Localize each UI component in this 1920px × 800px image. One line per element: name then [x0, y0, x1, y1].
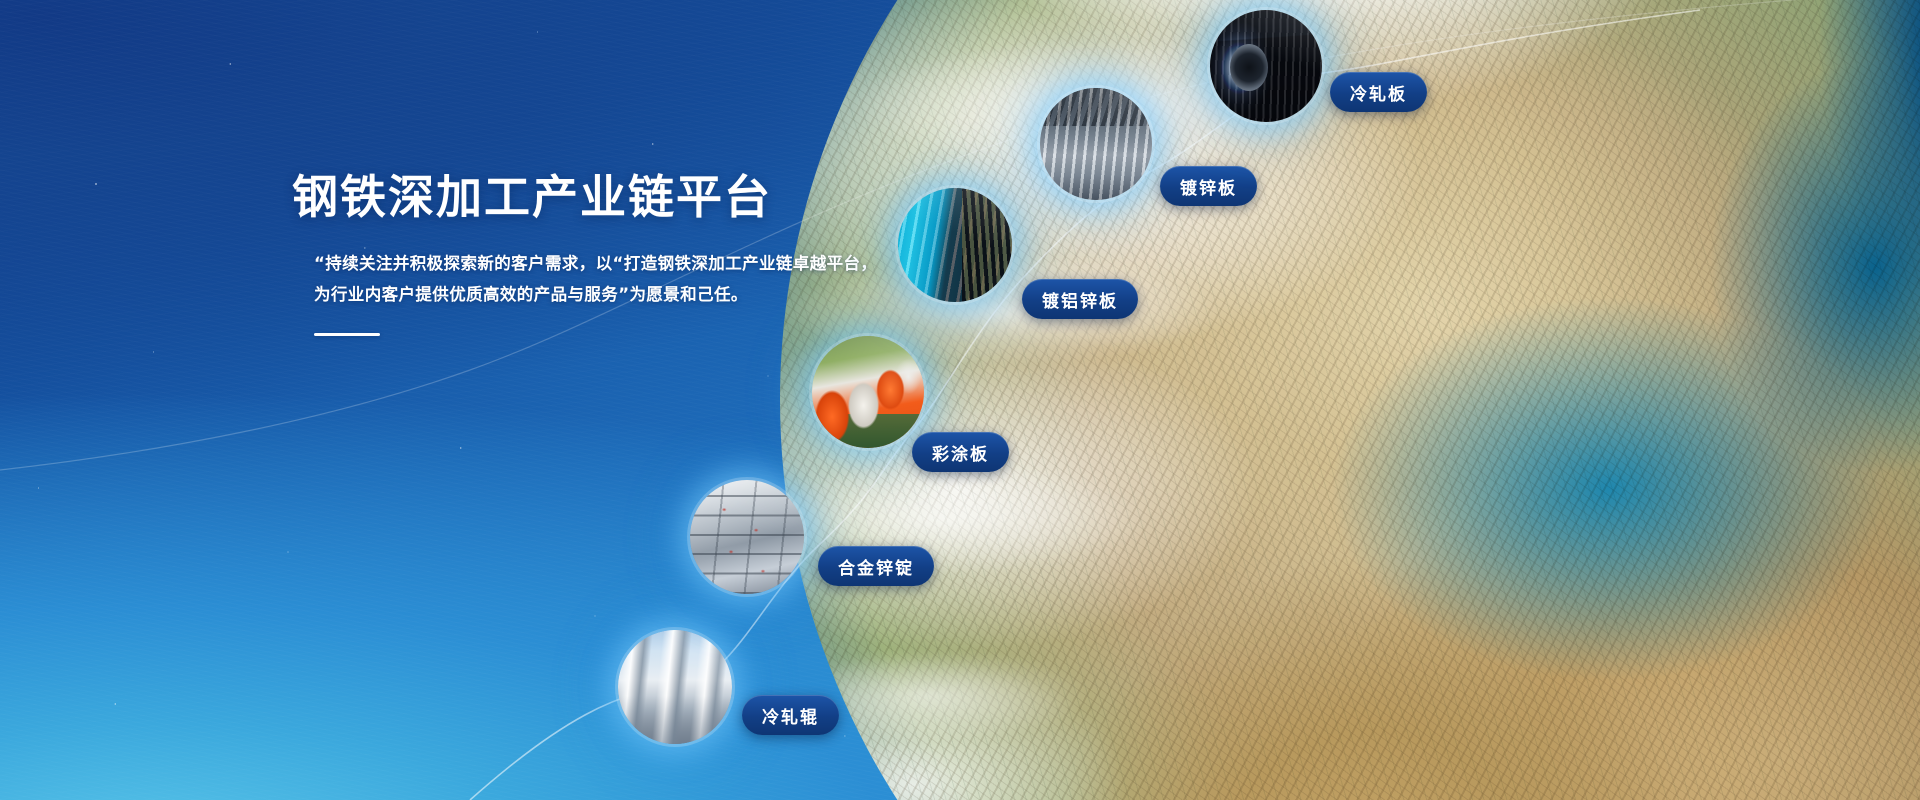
product-label-cold-rolled-plate[interactable]: 冷轧板	[1330, 72, 1427, 112]
hero-banner: 钢铁深加工产业链平台 “持续关注并积极探索新的客户需求，以“打造钢铁深加工产业链…	[0, 0, 1920, 800]
zinc-ingots-photo[interactable]	[690, 480, 804, 594]
steel-coil-photo[interactable]	[1210, 10, 1322, 122]
product-label-cold-rolling-roll[interactable]: 冷轧辊	[742, 695, 839, 735]
product-label-zinc-alloy-ingot[interactable]: 合金锌锭	[818, 546, 934, 586]
product-label-aluzinc-coated-plate[interactable]: 镀铝锌板	[1022, 279, 1138, 319]
warehouse-coils-photo[interactable]	[1040, 88, 1152, 200]
title-divider	[314, 333, 380, 336]
hero-subtitle-line-1: “持续关注并积极探索新的客户需求，以“打造钢铁深加工产业链卓越平台，	[314, 248, 932, 280]
hero-copy: 钢铁深加工产业链平台 “持续关注并积极探索新的客户需求，以“打造钢铁深加工产业链…	[292, 172, 932, 336]
product-label-galvanized-plate[interactable]: 镀锌板	[1160, 166, 1257, 206]
page-title: 钢铁深加工产业链平台	[292, 172, 932, 224]
cold-rolling-rolls-photo[interactable]	[618, 630, 732, 744]
connector-curve	[0, 0, 1920, 800]
hero-subtitle-line-2: 为行业内客户提供优质高效的产品与服务”为愿景和己任。	[314, 279, 932, 311]
product-label-color-coated-plate[interactable]: 彩涂板	[912, 432, 1009, 472]
hero-subtitle: “持续关注并积极探索新的客户需求，以“打造钢铁深加工产业链卓越平台， 为行业内客…	[314, 248, 932, 311]
color-coated-coils-photo[interactable]	[812, 336, 924, 448]
aluzinc-coil-photo[interactable]	[898, 188, 1012, 302]
